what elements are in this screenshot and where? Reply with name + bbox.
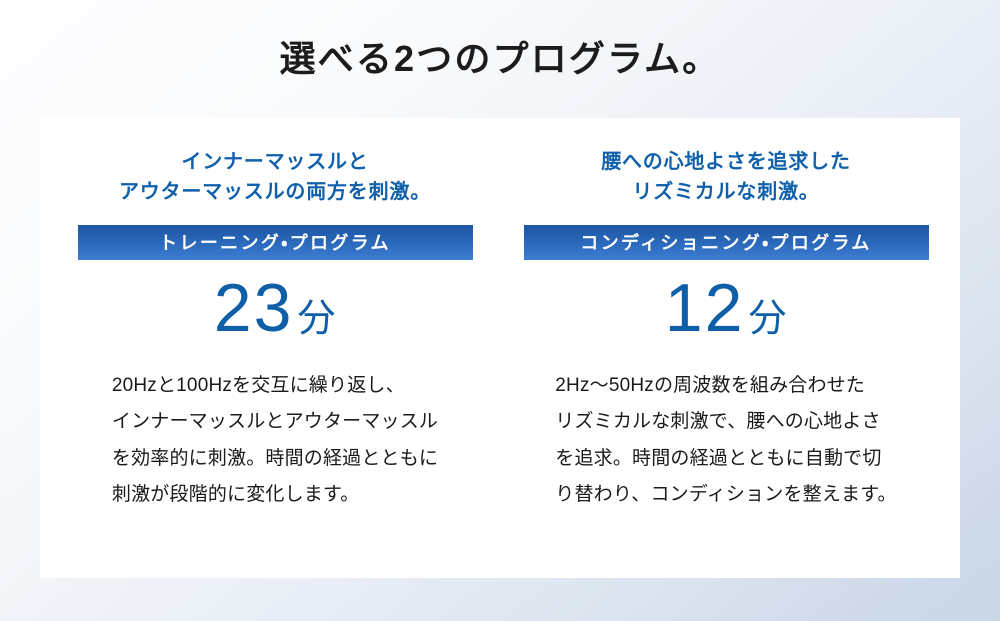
- program-column-conditioning: 腰への心地よさを追求した リズミカルな刺激。 コンディショニング・プログラム 1…: [500, 118, 960, 578]
- programs-card: インナーマッスルと アウターマッスルの両方を刺激。 トレーニング・プログラム 2…: [40, 118, 960, 578]
- program-description-conditioning: 2Hz〜50Hzの周波数を組み合わせた リズミカルな刺激で、腰への心地よさ を追…: [555, 368, 896, 514]
- program-badge-label-conditioning: コンディショニング・プログラム: [580, 229, 871, 255]
- page-title-container: 選べる2つのプログラム。: [0, 0, 1000, 118]
- program-description-line-4: 刺激が段階的に変化します。: [112, 477, 438, 513]
- program-badge-conditioning: コンディショニング・プログラム: [524, 225, 929, 260]
- program-description-line-2: リズミカルな刺激で、腰への心地よさ: [555, 404, 896, 440]
- program-column-training: インナーマッスルと アウターマッスルの両方を刺激。 トレーニング・プログラム 2…: [40, 118, 500, 578]
- program-description-line-3: を追求。時間の経過とともに自動で切: [555, 441, 896, 477]
- program-duration-training: 23 分: [214, 274, 336, 346]
- page-title: 選べる2つのプログラム。: [280, 41, 721, 77]
- program-duration-unit-training: 分: [297, 300, 336, 338]
- program-badge-label-training: トレーニング・プログラム: [159, 229, 391, 255]
- program-heading-conditioning: 腰への心地よさを追求した リズミカルな刺激。: [601, 147, 851, 208]
- program-description-line-3: を効率的に刺激。時間の経過とともに: [112, 441, 438, 477]
- program-heading-line-2: リズミカルな刺激。: [601, 177, 851, 207]
- program-duration-value-conditioning: 12: [665, 274, 745, 342]
- program-description-line-1: 2Hz〜50Hzの周波数を組み合わせた: [555, 368, 896, 404]
- program-badge-training: トレーニング・プログラム: [78, 225, 473, 260]
- program-description-line-4: り替わり、コンディションを整えます。: [555, 477, 896, 513]
- program-duration-conditioning: 12 分: [665, 274, 787, 346]
- program-description-training: 20Hzと100Hzを交互に繰り返し、 インナーマッスルとアウターマッスル を効…: [112, 368, 438, 514]
- program-description-line-2: インナーマッスルとアウターマッスル: [112, 404, 438, 440]
- program-description-line-1: 20Hzと100Hzを交互に繰り返し、: [112, 368, 438, 404]
- program-heading-line-1: インナーマッスルと: [119, 147, 431, 177]
- page-background: 選べる2つのプログラム。 インナーマッスルと アウターマッスルの両方を刺激。 ト…: [0, 0, 1000, 621]
- program-heading-line-1: 腰への心地よさを追求した: [601, 147, 851, 177]
- program-duration-unit-conditioning: 分: [748, 300, 787, 338]
- program-heading-training: インナーマッスルと アウターマッスルの両方を刺激。: [119, 147, 431, 208]
- program-heading-line-2: アウターマッスルの両方を刺激。: [119, 177, 431, 207]
- program-duration-value-training: 23: [214, 274, 294, 342]
